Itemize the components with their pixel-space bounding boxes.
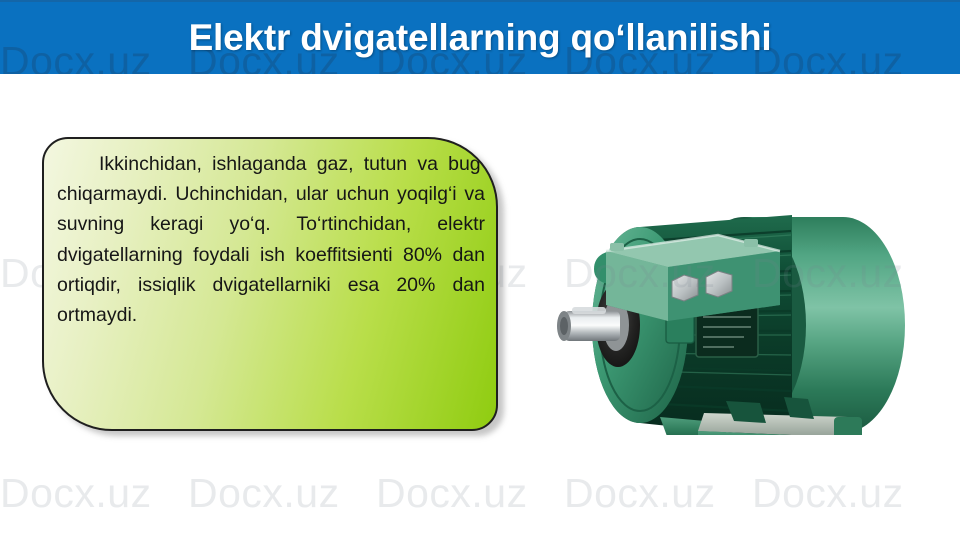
motor-terminal-box [606,235,780,321]
watermark-row: Docx.uzDocx.uzDocx.uzDocx.uzDocx.uz [0,470,960,517]
page-title: Elektr dvigatellarning qo‘llanilishi [0,2,960,74]
watermark-text: Docx.uz [752,470,940,517]
watermark-text: Docx.uz [376,470,564,517]
watermark-text: Docx.uz [0,470,188,517]
slide-canvas: Docx.uzDocx.uzDocx.uzDocx.uzDocx.uz Docx… [0,0,960,540]
terminal-bolt-right [706,271,732,297]
watermark-text: Docx.uz [188,470,376,517]
electric-motor-image [548,155,948,435]
text-callout-box: Ikkinchidan, ishlaganda gaz, tutun va bu… [42,137,498,431]
callout-body-text: Ikkinchidan, ishlaganda gaz, tutun va bu… [57,149,485,330]
terminal-bolt-left [672,275,698,301]
watermark-text: Docx.uz [564,470,752,517]
slide-title-bar: Docx.uzDocx.uzDocx.uzDocx.uzDocx.uz Elek… [0,0,960,74]
